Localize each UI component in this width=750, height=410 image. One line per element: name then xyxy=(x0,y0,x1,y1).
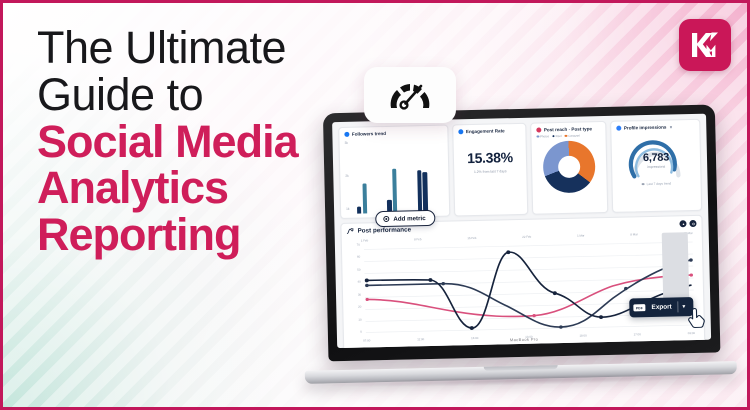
bar-group xyxy=(387,168,414,213)
legend-item: Photos xyxy=(536,134,549,138)
xtop-1: 8 Feb xyxy=(414,237,421,241)
card-engagement-rate[interactable]: Engagement Rate 15.38% 1.2% from last 7 … xyxy=(452,123,528,217)
xtop-0: 1 Feb xyxy=(361,238,368,242)
impressions-title-text: Profile impressions xyxy=(624,125,667,131)
y-axis-labels: 70 60 50 40 30 20 10 0 xyxy=(347,244,362,334)
chevron-down-icon[interactable]: ▾ xyxy=(670,124,672,129)
performance-actions xyxy=(679,220,696,227)
line-chart-svg xyxy=(347,230,699,342)
card-title-engagement: Engagement Rate xyxy=(458,128,520,134)
card-title-followers: Followers trend xyxy=(344,130,442,137)
export-label: Export xyxy=(651,304,671,311)
followers-title-text: Followers trend xyxy=(352,131,386,137)
impressions-footer-text: Last 7 days trend xyxy=(647,182,672,187)
export-divider xyxy=(678,301,679,312)
reach-title-text: Post reach · Post type xyxy=(544,126,592,132)
analytics-dashboard: Followers trend 3k 2k 1k xyxy=(332,114,711,348)
ytick-1: 60 xyxy=(357,256,360,259)
xtop-4: 1 Mar xyxy=(577,233,584,237)
ytick-7: 0 xyxy=(360,331,362,334)
speedometer-icon xyxy=(387,77,433,113)
more-icon[interactable] xyxy=(689,220,696,227)
followers-ytick-1: 2k xyxy=(345,175,354,178)
trend-icon xyxy=(346,228,353,235)
followers-ytick-2: 1k xyxy=(346,207,355,210)
xtop-3: 22 Feb xyxy=(522,235,531,239)
card-post-performance[interactable]: Post performance xyxy=(340,215,705,348)
impressions-icon xyxy=(616,126,621,131)
legend-item: Carousel xyxy=(565,134,580,138)
reach-donut-chart xyxy=(543,140,596,193)
ytick-2: 50 xyxy=(357,268,360,271)
chevron-down-icon[interactable]: ▾ xyxy=(682,303,685,310)
legend-label: Carousel xyxy=(568,134,580,138)
metric-cards-row: Followers trend 3k 2k 1k xyxy=(338,119,702,219)
side-panel-placeholder xyxy=(662,232,690,307)
add-metric-button[interactable]: Add metric xyxy=(375,210,436,227)
ytick-4: 30 xyxy=(358,293,361,296)
settings-icon[interactable] xyxy=(679,220,686,227)
ytick-3: 40 xyxy=(357,281,360,284)
legend-item: Reel xyxy=(552,134,562,138)
card-title-impressions: Profile impressions ▾ xyxy=(616,124,694,131)
followers-bars xyxy=(354,140,445,214)
reach-icon xyxy=(536,127,541,132)
engagement-value: 15.38% xyxy=(459,149,521,166)
performance-title: Post performance xyxy=(346,226,411,234)
pdf-format-chip: PDF xyxy=(633,304,645,311)
card-post-reach[interactable]: Post reach · Post type Photos Reel Carou… xyxy=(530,121,608,215)
plus-circle-icon xyxy=(383,216,389,222)
xtop-5: 8 Mar xyxy=(630,232,637,236)
headline-line-2: Guide to xyxy=(37,72,367,119)
facebook-icon xyxy=(344,132,349,137)
cursor-pointer-icon xyxy=(687,308,705,328)
ytick-6: 10 xyxy=(358,318,361,321)
banner: The Ultimate Guide to Social Media Analy… xyxy=(0,0,750,410)
km-monogram-icon xyxy=(687,27,723,63)
xtop-2: 15 Feb xyxy=(467,236,476,240)
followers-ytick-0: 3k xyxy=(345,142,354,145)
impressions-gauge: 6,783 impressions xyxy=(626,133,685,180)
bar-group xyxy=(356,183,383,214)
brand-logo xyxy=(679,19,731,71)
laptop-screen: Followers trend 3k 2k 1k xyxy=(332,114,711,348)
ytick-5: 20 xyxy=(358,306,361,309)
followers-chart: 3k 2k 1k xyxy=(345,140,445,214)
laptop-lid: Followers trend 3k 2k 1k xyxy=(323,104,721,361)
card-profile-impressions[interactable]: Profile impressions ▾ 6,783 imp xyxy=(610,119,702,213)
impressions-value: 6,783 xyxy=(627,151,685,164)
reach-legend: Photos Reel Carousel xyxy=(536,133,600,138)
legend-label: Reel xyxy=(556,134,562,138)
performance-title-text: Post performance xyxy=(357,226,411,234)
laptop-mockup: Followers trend 3k 2k 1k xyxy=(305,104,731,391)
performance-line-chart: 1 Feb 8 Feb 15 Feb 22 Feb 1 Mar 8 Mar 15… xyxy=(347,230,699,342)
bar-group xyxy=(417,170,444,213)
impressions-footer: Last 7 days trend xyxy=(618,181,696,187)
headline-line-1: The Ultimate xyxy=(37,25,367,72)
speedometer-badge xyxy=(364,67,456,123)
engagement-title-text: Engagement Rate xyxy=(466,128,505,134)
card-title-reach: Post reach · Post type xyxy=(536,126,600,132)
add-metric-label: Add metric xyxy=(393,215,425,223)
ytick-0: 70 xyxy=(357,244,360,247)
card-followers-trend[interactable]: Followers trend 3k 2k 1k xyxy=(338,125,450,219)
footer-dot-icon xyxy=(642,183,645,186)
engagement-subtext: 1.2% from last 7 days xyxy=(459,169,521,174)
instagram-icon xyxy=(458,129,463,134)
export-button[interactable]: PDF Export ▾ xyxy=(629,297,693,317)
legend-label: Photos xyxy=(540,134,549,138)
